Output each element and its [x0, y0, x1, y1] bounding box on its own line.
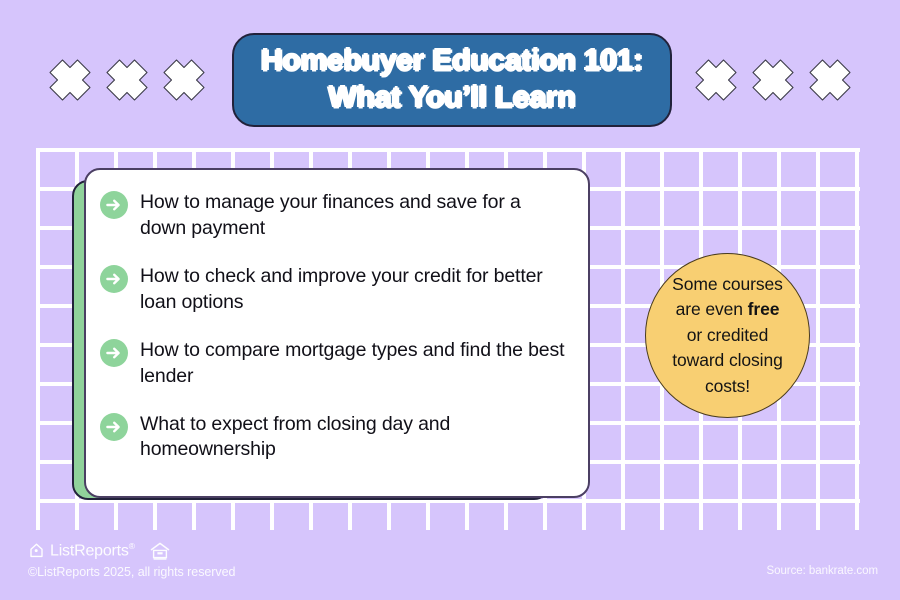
bullet-list: How to manage your finances and save for… — [100, 190, 566, 463]
page-title-line-2: What You’ll Learn — [328, 80, 575, 117]
list-item: What to expect from closing day and home… — [100, 412, 566, 464]
cross-icon — [48, 58, 92, 102]
cross-icon — [105, 58, 149, 102]
listreports-logo: ListReports® — [28, 541, 135, 560]
list-item: How to manage your finances and save for… — [100, 190, 566, 242]
arrow-right-circle-icon — [100, 339, 128, 367]
callout-text: Some courses are even free or credited t… — [658, 272, 797, 399]
copyright-text: ©ListReports 2025, all rights reserved — [28, 565, 235, 579]
source-text: Source: bankrate.com — [766, 565, 878, 577]
cross-icon — [694, 58, 738, 102]
list-item-label: How to check and improve your credit for… — [140, 264, 566, 316]
callout-line-1: Some courses — [672, 274, 783, 294]
arrow-right-circle-icon — [100, 265, 128, 293]
callout-line-5: costs! — [705, 376, 750, 396]
cross-icon — [751, 58, 795, 102]
brand-name: ListReports® — [50, 541, 135, 560]
listreports-house-tag-icon — [28, 542, 45, 559]
arrow-right-circle-icon — [100, 191, 128, 219]
arrow-right-circle-icon — [100, 413, 128, 441]
page-title-line-1: Homebuyer Education 101: — [261, 43, 643, 80]
infographic-canvas: Homebuyer Education 101: What You’ll Lea… — [0, 0, 900, 600]
list-item: How to check and improve your credit for… — [100, 264, 566, 316]
list-item-label: How to manage your finances and save for… — [140, 190, 566, 242]
list-item-label: What to expect from closing day and home… — [140, 412, 566, 464]
equal-housing-opportunity-icon — [149, 541, 171, 561]
callout-line-2-prefix: are even — [676, 299, 748, 319]
cross-icon — [808, 58, 852, 102]
callout-circle: Some courses are even free or credited t… — [645, 253, 810, 418]
bullet-list-card: How to manage your finances and save for… — [84, 168, 590, 498]
callout-highlight-free: free — [748, 299, 780, 319]
title-banner: Homebuyer Education 101: What You’ll Lea… — [232, 33, 672, 127]
cross-icon — [162, 58, 206, 102]
list-item-label: How to compare mortgage types and find t… — [140, 338, 566, 390]
list-item: How to compare mortgage types and find t… — [100, 338, 566, 390]
callout-line-3: or credited — [687, 325, 769, 345]
footer-branding: ListReports® — [28, 541, 171, 561]
callout-line-4: toward closing — [672, 350, 782, 370]
